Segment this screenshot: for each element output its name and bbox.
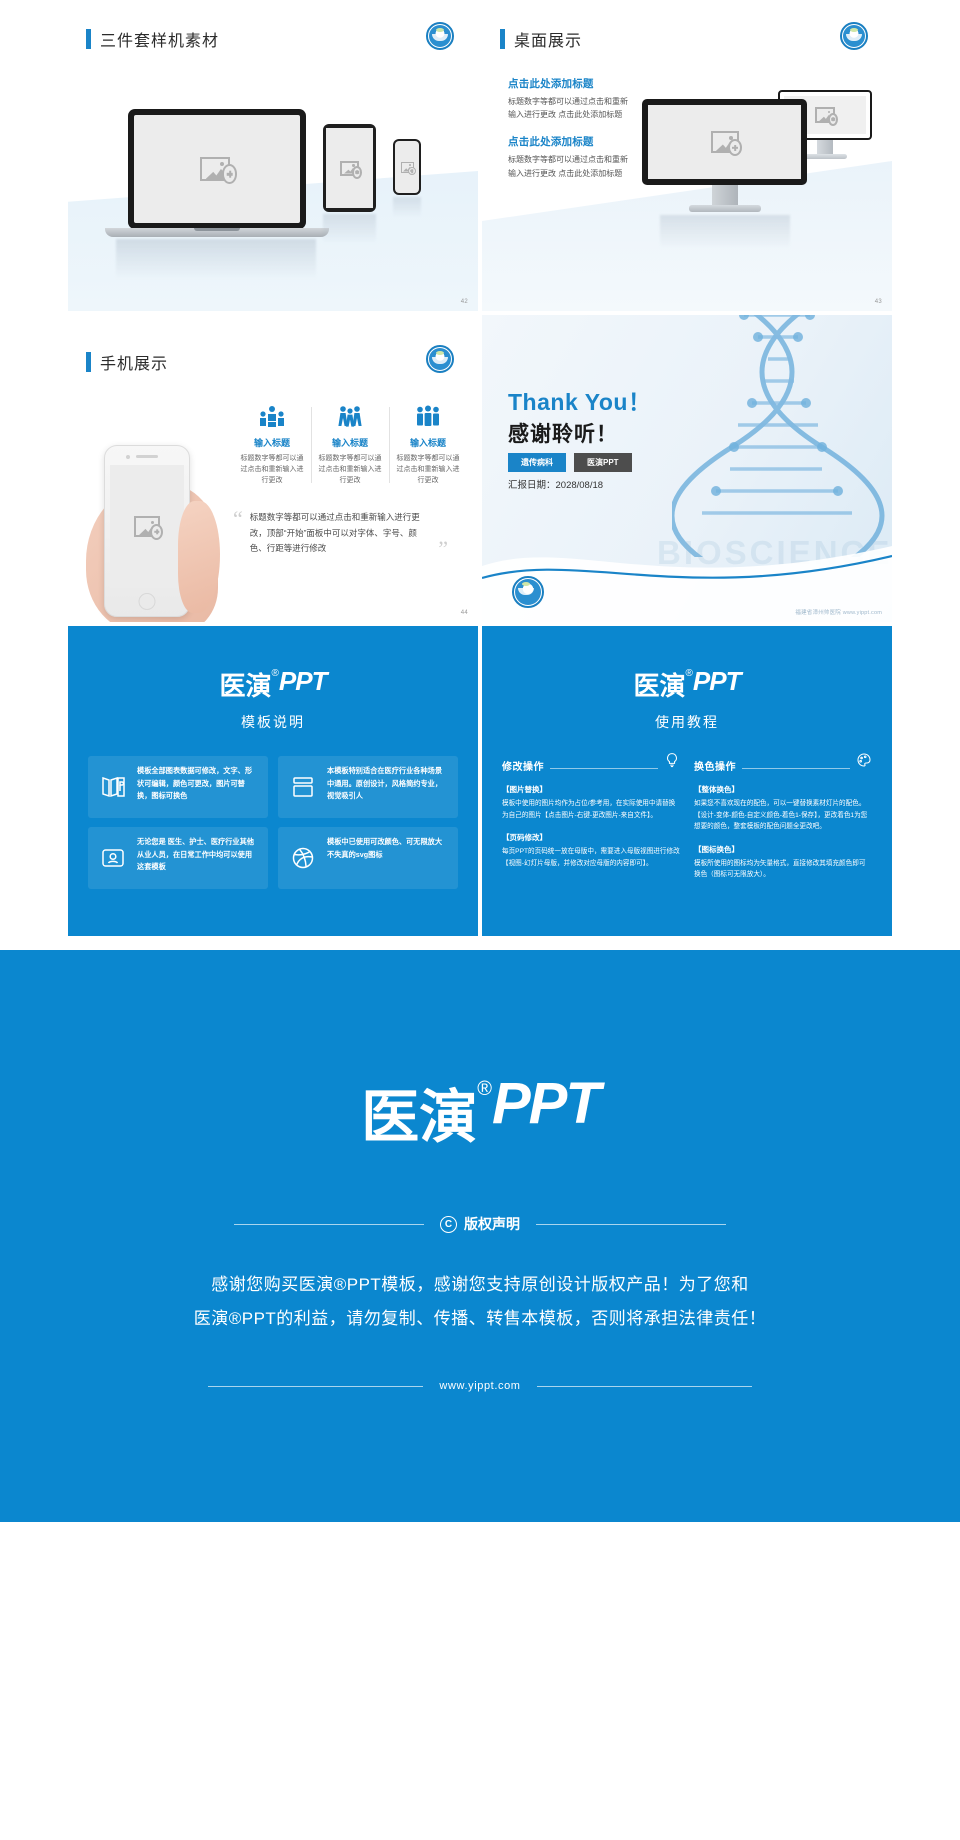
monitor-neck-secondary (817, 140, 833, 154)
people-check-icon (239, 403, 305, 429)
laptop-reflection (116, 239, 316, 279)
slide-thumbnail-phone[interactable]: 手机展示 (68, 315, 478, 622)
panel-left-subtitle: 模板说明 (68, 712, 478, 732)
panel-right-brand: 医演 ® PPT 使用教程 (482, 666, 892, 732)
feature-heading-3: 输入标题 (395, 436, 461, 449)
laptop-lid (128, 109, 306, 229)
placeholder-sun (220, 162, 224, 166)
header-divider (742, 768, 850, 769)
feature-card: 本模板特别适合在医疗行业各种场景中通用。原创设计，风格简约专业，视觉吸引人 (278, 756, 458, 818)
panel-right-subtitle: 使用教程 (482, 712, 892, 732)
placeholder-add-badge (408, 167, 416, 175)
slide1-title-text: 三件套样机素材 (100, 27, 219, 51)
title-accent-bar (500, 29, 505, 49)
laptop-mockup (128, 109, 329, 279)
copyright-label-group: C 版权声明 (440, 1214, 520, 1234)
monitor-neck-primary (712, 185, 738, 205)
placeholder-sun (409, 164, 411, 166)
quote-close-icon: ” (438, 540, 448, 558)
divider-right (536, 1224, 726, 1225)
tutorial-item-body: 每页PPT的页码统一放在母版中，需要进入母版视图进行修改【视图-幻灯片母版，并修… (502, 846, 680, 869)
copyright-mark-icon: C (440, 1216, 457, 1233)
brand-registered-mark: ® (272, 669, 279, 679)
report-date: 汇报日期：2028/08/18 (508, 477, 603, 491)
slide-thumbnail-devices[interactable]: 三件套样机素材 (68, 4, 478, 311)
placeholder-add-badge (222, 164, 237, 184)
slide2-heading-1: 点击此处添加标题 (508, 76, 628, 91)
hospital-logo-icon (840, 22, 868, 50)
slide-number: 43 (875, 299, 882, 305)
slide2-block-2: 点击此处添加标题 标题数字等都可以通过点击和重新输入进行更改 点击此处添加标题 (508, 134, 628, 179)
tag-brand[interactable]: 医演PPT (574, 453, 632, 472)
hospital-logo-icon (426, 22, 454, 50)
tutorial-column-recolor: 换色操作 【整体换色】 如果您不喜欢现在的配色，可以一键替换素材灯片的配色。【设… (694, 752, 872, 881)
info-panels: 医演 ® PPT 模板说明 模板全部图表数据可修改，文字、形状可编辑，颜色可更改… (68, 626, 892, 936)
tutorial-column-modify: 修改操作 【图片替换】 模板中使用的图片均作为占位/参考用，在实际使用中请替换为… (502, 752, 680, 881)
feature-card-text: 本模板特别适合在医疗行业各种场景中通用。原创设计，风格简约专业，视觉吸引人 (327, 765, 448, 809)
phone-screen-content (110, 465, 184, 588)
slide2-text-blocks: 点击此处添加标题 标题数字等都可以通过点击和重新输入进行更改 点击此处添加标题 … (508, 76, 628, 180)
copyright-section: 医演 ® PPT C 版权声明 感谢您购买医演®PPT模板，感谢您支持原创设计版… (0, 950, 960, 1522)
brand-ppt: PPT (492, 1070, 599, 1137)
phone-screen (395, 141, 419, 193)
copyright-line-2: 医演®PPT的利益，请勿复制、传播、转售本模板，否则将承担法律责任！ (0, 1302, 960, 1336)
feature-card: 无论您是 医生、护士、医疗行业其他从业人员，在日常工作中均可以使用这套模板 (88, 827, 268, 889)
divider-right (537, 1386, 752, 1387)
image-placeholder-icon (340, 161, 359, 176)
tutorial-item: 【图标换色】 模板所使用的图标均为矢量格式，直接修改其填充颜色即可换色（图标可无… (694, 844, 872, 881)
feature-column-3: 输入标题 标题数字等都可以通过点击和重新输入进行更改 (389, 403, 467, 487)
tutorial-item-body: 模板所使用的图标均为矢量格式，直接修改其填充颜色即可换色（图标可无限放大）。 (694, 858, 872, 881)
monitor-foot-secondary (803, 154, 847, 159)
slide2-title: 桌面展示 (500, 27, 582, 51)
bulb-icon (664, 752, 680, 773)
logo-inner (429, 25, 451, 47)
brand-ppt: PPT (693, 666, 741, 697)
phone-home-button (139, 593, 156, 610)
panel-left-brand: 医演 ® PPT 模板说明 (68, 666, 478, 732)
slide1-title: 三件套样机素材 (86, 27, 219, 51)
tablet-screen (326, 128, 373, 208)
hand-holding-phone-mockup (86, 445, 221, 622)
dna-helix-graphic (672, 315, 892, 557)
feature-column-2: 输入标题 标题数字等都可以通过点击和重新输入进行更改 (311, 403, 389, 487)
layers-icon (288, 765, 318, 809)
people-three-icon (395, 403, 461, 429)
website-url[interactable]: www.yippt.com (439, 1380, 520, 1392)
header-divider (550, 768, 658, 769)
tutorial-item-heading: 【页码修改】 (502, 832, 680, 843)
feature-card: 模板全部图表数据可修改，文字、形状可编辑，颜色可更改，图片可替换，图标可换色 (88, 756, 268, 818)
brand-cn: 医演 (220, 666, 272, 703)
placeholder-add-badge (728, 139, 742, 156)
logo-inner (843, 25, 865, 47)
tutorial-column-header: 修改操作 (502, 752, 680, 773)
slide2-body-2: 标题数字等都可以通过点击和重新输入进行更改 点击此处添加标题 (508, 153, 628, 179)
monitor-screen-primary (642, 99, 807, 185)
copyright-label: 版权声明 (464, 1214, 520, 1234)
image-placeholder-icon (711, 131, 739, 153)
tutorial-item-heading: 【图标换色】 (694, 844, 872, 855)
slide3-quote: “ 标题数字等都可以通过点击和重新输入进行更改，顶部“开始”面板中可以对字体、字… (233, 510, 448, 557)
feature-card: 模板中已使用可改颜色、可无限放大不失真的svg图标 (278, 827, 458, 889)
tablet-mockup (323, 124, 376, 244)
image-placeholder-icon (401, 162, 414, 173)
divider-left (208, 1386, 423, 1387)
feature-body-1: 标题数字等都可以通过点击和重新输入进行更改 (239, 453, 305, 487)
tablet-reflection (323, 214, 376, 244)
tutorial-item: 【图片替换】 模板中使用的图片均作为占位/参考用，在实际使用中请替换为自己的图片… (502, 784, 680, 821)
laptop-base (105, 228, 329, 237)
slide4-footer-text: 福建省漳州帅医院 www.yippt.com (795, 608, 882, 616)
copyright-title-row: C 版权声明 (0, 1214, 960, 1234)
slide2-block-1: 点击此处添加标题 标题数字等都可以通过点击和重新输入进行更改 点击此处添加标题 (508, 76, 628, 121)
tutorial-item: 【整体换色】 如果您不喜欢现在的配色，可以一键替换素材灯片的配色。【设计-变体-… (694, 784, 872, 833)
copyright-url-row: www.yippt.com (0, 1380, 960, 1392)
slide-number: 44 (461, 610, 468, 616)
slide2-title-text: 桌面展示 (514, 27, 582, 51)
slide3-title-text: 手机展示 (100, 350, 168, 374)
monitor-inner-primary (648, 105, 801, 179)
brand-ppt: PPT (279, 666, 327, 697)
thank-you-title-group: Thank You！ 感谢聆听！ (508, 383, 651, 448)
people-group-icon (317, 403, 383, 429)
image-placeholder-icon (815, 107, 835, 123)
thank-you-chinese: 感谢聆听！ (508, 418, 651, 448)
slide3-feature-row: 输入标题 标题数字等都可以通过点击和重新输入进行更改 输入标题 标题数字等都可以… (233, 403, 467, 487)
palette-icon (856, 752, 872, 773)
tablet-body (323, 124, 376, 212)
phone-speaker (136, 455, 158, 458)
brand-cn: 医演 (361, 1070, 477, 1154)
user-card-icon (98, 836, 128, 880)
title-accent-bar (86, 352, 91, 372)
tutorial-item: 【页码修改】 每页PPT的页码统一放在母版中，需要进入母版视图进行修改【视图-幻… (502, 832, 680, 869)
copyright-line-1: 感谢您购买医演®PPT模板，感谢您支持原创设计版权产品！为了您和 (0, 1268, 960, 1302)
monitor-mockup-primary (642, 99, 807, 249)
feature-card-text: 模板中已使用可改颜色、可无限放大不失真的svg图标 (327, 836, 448, 880)
feature-body-2: 标题数字等都可以通过点击和重新输入进行更改 (317, 453, 383, 487)
placeholder-add-badge (150, 524, 163, 540)
tutorial-item-heading: 【整体换色】 (694, 784, 872, 795)
hospital-logo-icon (512, 576, 544, 608)
slide2-heading-2: 点击此处添加标题 (508, 134, 628, 149)
logo-inner (429, 348, 451, 370)
phone-mockup (393, 139, 421, 217)
phone-device (104, 445, 190, 617)
template-feature-cards: 模板全部图表数据可修改，文字、形状可编辑，颜色可更改，图片可替换，图标可换色 本… (68, 732, 478, 889)
brand-registered-mark: ® (686, 669, 693, 679)
tutorial-header-text: 换色操作 (694, 758, 736, 773)
tutorial-column-header: 换色操作 (694, 752, 872, 773)
logo-inner (515, 579, 541, 605)
feature-heading-1: 输入标题 (239, 436, 305, 449)
placeholder-add-badge (828, 113, 838, 126)
title-accent-bar (86, 29, 91, 49)
copyright-brand-logo: 医演 ® PPT (361, 1070, 599, 1154)
divider-left (234, 1224, 424, 1225)
image-placeholder-icon (200, 157, 234, 181)
slide-number: 42 (461, 299, 468, 305)
monitor-foot-primary (689, 205, 761, 212)
feature-body-3: 标题数字等都可以通过点击和重新输入进行更改 (395, 453, 461, 487)
brand-logo-text: 医演 ® PPT (220, 666, 327, 703)
slide-thumbnail-grid: 三件套样机素材 (68, 4, 892, 622)
feature-column-1: 输入标题 标题数字等都可以通过点击和重新输入进行更改 (233, 403, 311, 487)
phone-reflection (393, 197, 421, 217)
slide3-quote-text: 标题数字等都可以通过点击和重新输入进行更改，顶部“开始”面板中可以对字体、字号、… (250, 510, 431, 557)
slide3-title: 手机展示 (86, 350, 168, 374)
slide-thumbnail-thank-you[interactable]: BIOSCIENCE Thank You！ 感谢聆听！ 遗传病科 医演PPT 汇… (482, 315, 892, 622)
tutorial-item-heading: 【图片替换】 (502, 784, 680, 795)
brand-registered-mark: ® (477, 1079, 492, 1099)
feature-card-text: 无论您是 医生、护士、医疗行业其他从业人员，在日常工作中均可以使用这套模板 (137, 836, 258, 880)
tag-department[interactable]: 遗传病科 (508, 453, 566, 472)
monitor-reflection (660, 215, 790, 249)
brand-cn: 医演 (634, 666, 686, 703)
thank-you-tags: 遗传病科 医演PPT (508, 453, 632, 472)
slide-thumbnail-desktop[interactable]: 桌面展示 点击此处添加标题 标题数字等都可以通过点击和重新输入进行更改 点击此处… (482, 4, 892, 311)
hospital-logo-icon (426, 345, 454, 373)
phone-camera (126, 455, 130, 459)
brand-logo-text: 医演 ® PPT (634, 666, 741, 703)
panel-usage-tutorial: 医演 ® PPT 使用教程 修改操作 (482, 626, 892, 936)
panel-template-description: 医演 ® PPT 模板说明 模板全部图表数据可修改，文字、形状可编辑，颜色可更改… (68, 626, 478, 936)
laptop-screen (134, 115, 300, 223)
tutorial-header-text: 修改操作 (502, 758, 544, 773)
book-p-icon (98, 765, 128, 809)
tutorial-item-body: 如果您不喜欢现在的配色，可以一键替换素材灯片的配色。【设计-变体-颜色-自定义颜… (694, 798, 872, 833)
feature-card-text: 模板全部图表数据可修改，文字、形状可编辑，颜色可更改，图片可替换，图标可换色 (137, 765, 258, 809)
slide2-body-1: 标题数字等都可以通过点击和重新输入进行更改 点击此处添加标题 (508, 95, 628, 121)
feature-heading-2: 输入标题 (317, 436, 383, 449)
image-placeholder-icon (134, 516, 160, 537)
copyright-body: 感谢您购买医演®PPT模板，感谢您支持原创设计版权产品！为了您和 医演®PPT的… (0, 1268, 960, 1336)
thank-you-english: Thank You！ (508, 383, 651, 417)
dribbble-icon (288, 836, 318, 880)
placeholder-add-badge (352, 166, 362, 179)
tutorial-item-body: 模板中使用的图片均作为占位/参考用，在实际使用中请替换为自己的图片【点击图片-右… (502, 798, 680, 821)
phone-body (393, 139, 421, 195)
quote-open-icon: “ (233, 510, 243, 557)
tutorial-columns: 修改操作 【图片替换】 模板中使用的图片均作为占位/参考用，在实际使用中请替换为… (482, 732, 892, 881)
